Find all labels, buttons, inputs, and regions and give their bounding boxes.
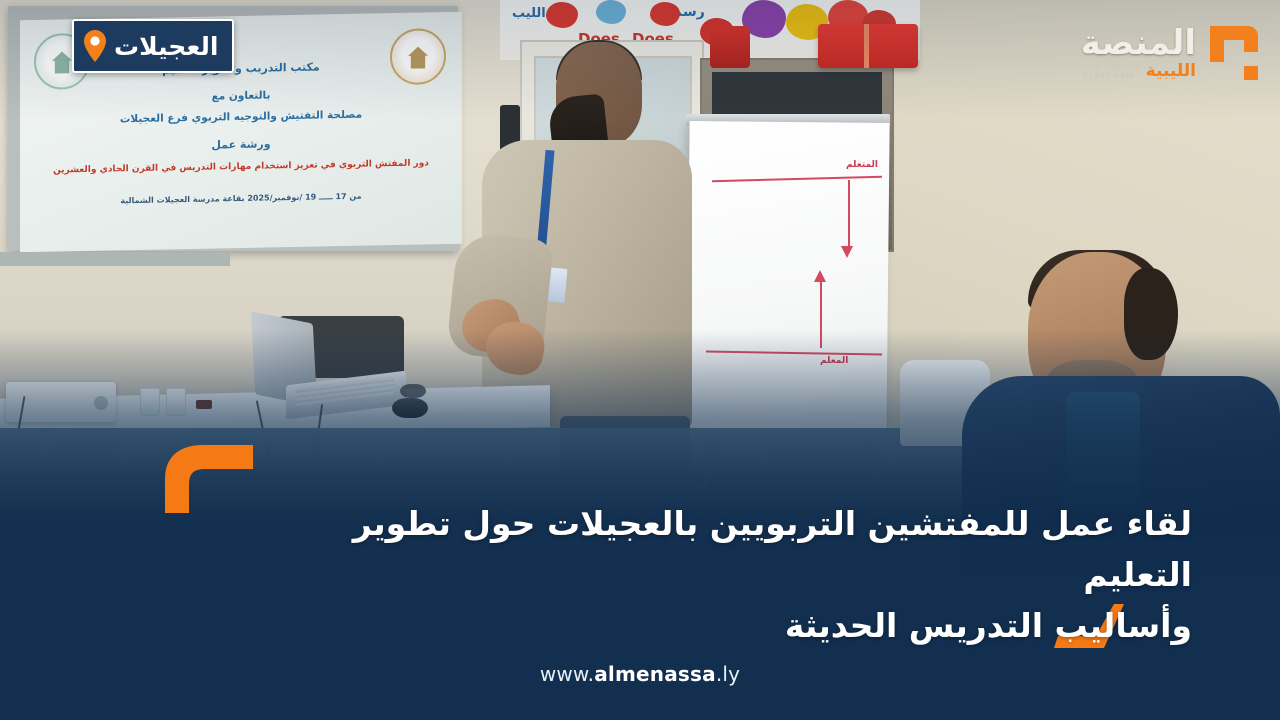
location-label: العجيلات [114,32,218,61]
url-prefix: www. [540,662,594,686]
flipchart-line [848,180,850,252]
flipchart-arrow-down-icon [841,246,853,258]
brand-subtitle: THE LIBYAN PLATFORM الليبية [1083,63,1196,81]
news-graphic-canvas: مكتب التدريب وتطوير التعليم بالتعاون مع … [0,0,1280,720]
brand-name-arabic: المنصة [1081,26,1196,60]
brand-en-line1: THE LIBYAN [1083,63,1140,71]
brand-en-line2: PLATFORM [1083,72,1134,80]
slide-line-6: من 17 ـــــ 19 /نوفمبر/2025 بقاعة مدرسة … [38,190,444,208]
wall-board-strip [0,252,230,266]
url-main: almenassa [594,662,716,686]
headline-line-2: وأساليب التدريس الحديثة [262,600,1192,651]
headline-line-1: لقاء عمل للمفتشين التربويين بالعجيلات حو… [262,498,1192,600]
brand-sub-arabic: الليبية [1146,63,1196,80]
brand-name-english: THE LIBYAN PLATFORM [1083,63,1140,81]
flipchart-arrow-up-icon [814,270,826,282]
website-url: www.almenassa.ly [0,662,1280,686]
location-badge: العجيلات [72,19,234,73]
brand-logo: المنصة THE LIBYAN PLATFORM الليبية [1038,12,1262,94]
map-pin-icon [82,29,108,63]
url-suffix: .ly [716,662,740,686]
bracket-mark-icon [1204,22,1262,84]
slide-line-4: ورشة عمل [38,134,444,156]
slide-line-5: دور المفتش التربوي في تعزيز استخدام مهار… [38,158,444,177]
corner-bracket-icon [163,443,255,515]
flipchart-label-top: المتعلم [846,160,878,170]
headline: لقاء عمل للمفتشين التربويين بالعجيلات حو… [262,498,1192,651]
brand-text: المنصة THE LIBYAN PLATFORM الليبية [1081,26,1196,81]
